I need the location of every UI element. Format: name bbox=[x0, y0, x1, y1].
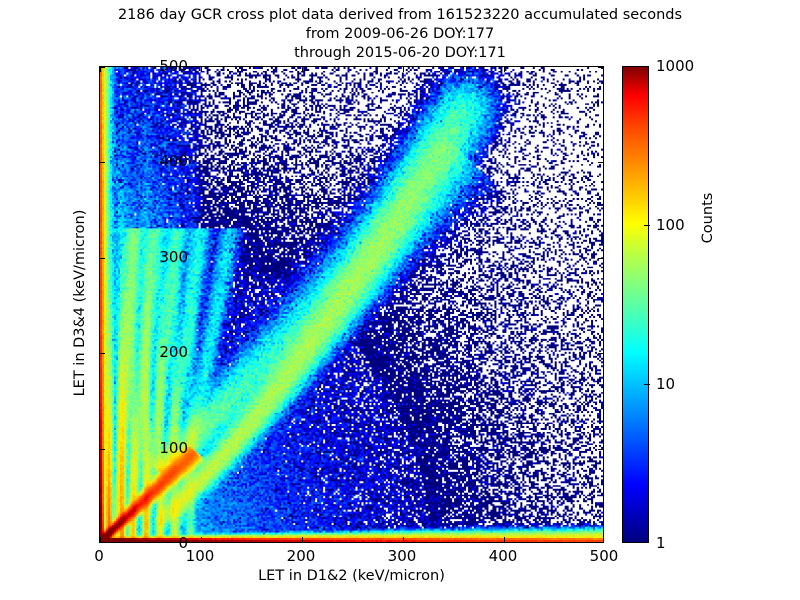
y-tick bbox=[100, 67, 105, 68]
colorbar-tick-label: 10 bbox=[656, 375, 675, 393]
y-axis-label: LET in D3&4 (keV/micron) bbox=[72, 63, 88, 543]
chart-title-line-0: 2186 day GCR cross plot data derived fro… bbox=[0, 6, 800, 25]
colorbar-tick bbox=[644, 384, 650, 385]
x-tick-label: 100 bbox=[186, 547, 215, 565]
colorbar-tick-label: 1 bbox=[656, 534, 666, 552]
x-tick-top bbox=[504, 67, 505, 72]
y-tick-label: 200 bbox=[159, 343, 188, 361]
y-tick-label: 300 bbox=[159, 248, 188, 266]
chart-title: 2186 day GCR cross plot data derived fro… bbox=[0, 6, 800, 63]
colorbar-tick bbox=[644, 225, 650, 226]
colorbar-tick-label: 100 bbox=[656, 216, 685, 234]
figure-container: 2186 day GCR cross plot data derived fro… bbox=[0, 0, 800, 600]
colorbar-tick-label: 1000 bbox=[656, 57, 694, 75]
y-tick-label: 100 bbox=[159, 439, 188, 457]
colorbar-container: 1101001000 bbox=[622, 66, 649, 543]
y-tick bbox=[100, 162, 105, 163]
x-tick bbox=[201, 537, 202, 542]
y-tick bbox=[100, 258, 105, 259]
chart-title-line-1: from 2009-06-26 DOY:177 bbox=[0, 25, 800, 44]
x-tick bbox=[504, 537, 505, 542]
x-tick-label: 400 bbox=[489, 547, 518, 565]
x-tick-label: 0 bbox=[94, 547, 104, 565]
y-tick-right bbox=[598, 67, 603, 68]
y-tick-right bbox=[598, 162, 603, 163]
x-tick-label: 500 bbox=[590, 547, 619, 565]
y-tick-label: 400 bbox=[159, 152, 188, 170]
y-tick-right bbox=[598, 258, 603, 259]
x-tick-label: 300 bbox=[388, 547, 417, 565]
y-tick bbox=[100, 353, 105, 354]
x-tick bbox=[100, 537, 101, 542]
x-tick-top bbox=[403, 67, 404, 72]
heatmap-canvas bbox=[100, 67, 603, 542]
y-tick-label: 500 bbox=[159, 57, 188, 75]
y-tick-right bbox=[598, 449, 603, 450]
y-tick-label: 0 bbox=[178, 534, 188, 552]
colorbar-gradient bbox=[622, 66, 649, 543]
colorbar-label: Counts bbox=[700, 128, 716, 308]
plot-axes bbox=[99, 66, 604, 543]
x-axis-label: LET in D1&2 (keV/micron) bbox=[99, 568, 604, 584]
x-tick bbox=[302, 537, 303, 542]
x-tick bbox=[403, 537, 404, 542]
y-tick-right bbox=[598, 353, 603, 354]
y-tick bbox=[100, 449, 105, 450]
x-tick-label: 200 bbox=[287, 547, 316, 565]
x-tick-top bbox=[302, 67, 303, 72]
x-tick-top bbox=[201, 67, 202, 72]
